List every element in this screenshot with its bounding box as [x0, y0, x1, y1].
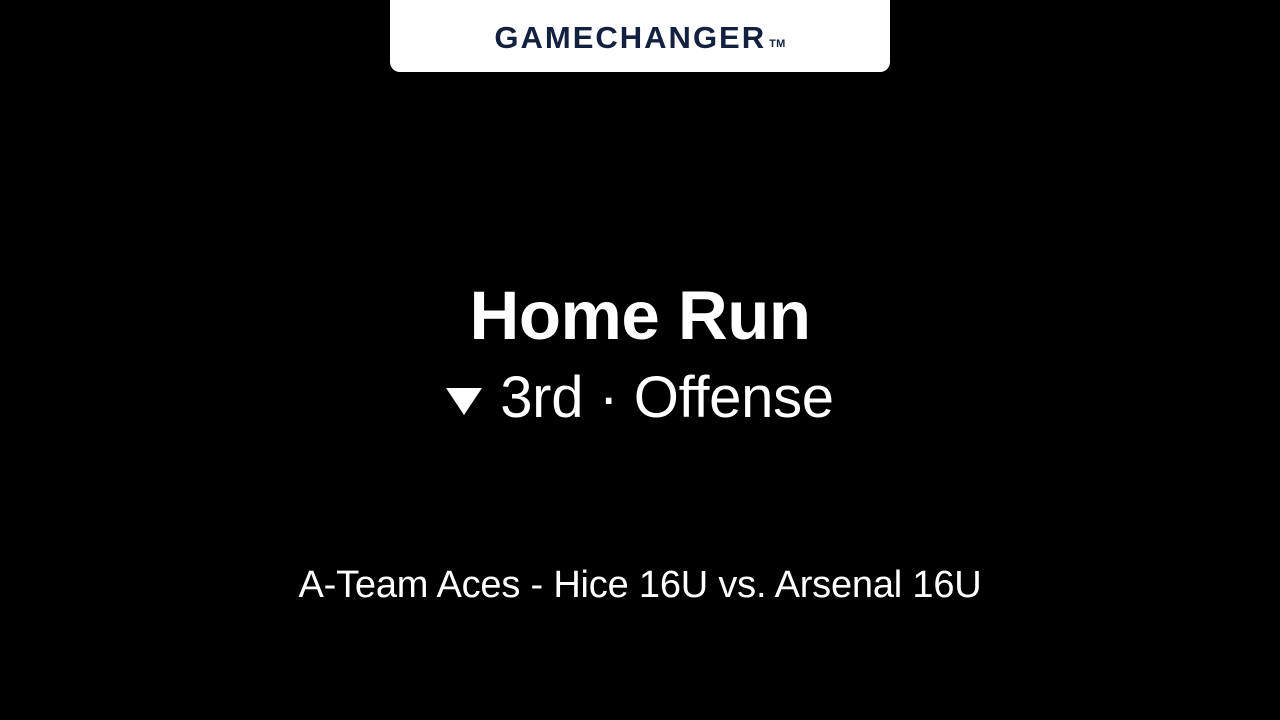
inning-and-side-label: 3rd · Offense	[500, 369, 834, 427]
video-overlay-screen: GAMECHANGER TM Home Run 3rd · Offense A-…	[0, 0, 1280, 720]
play-context-row: 3rd · Offense	[0, 369, 1280, 427]
play-title: Home Run	[0, 281, 1280, 350]
game-matchup-caption: A-Team Aces - Hice 16U vs. Arsenal 16U	[0, 565, 1280, 607]
play-summary-card: Home Run 3rd · Offense A-Team Aces - Hic…	[0, 0, 1280, 720]
triangle-down-icon	[446, 388, 482, 415]
